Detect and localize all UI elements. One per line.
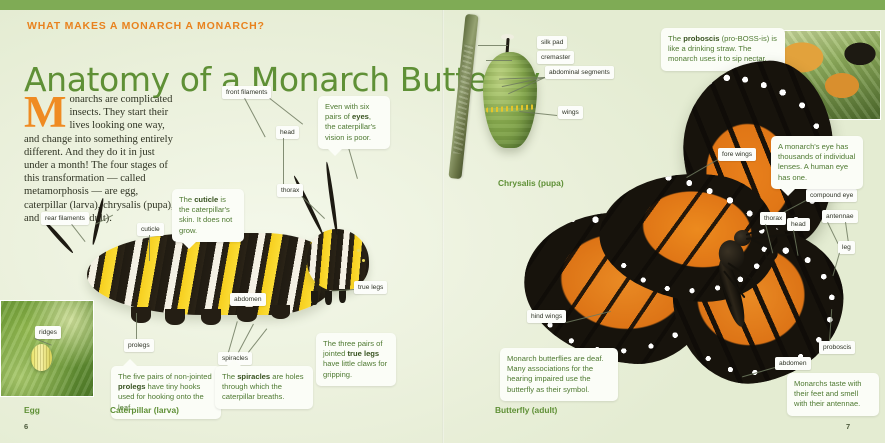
callout-deaf: Monarch butterflies are deaf. Many assoc…	[500, 348, 618, 401]
proleg-3	[201, 309, 221, 325]
callout-proboscis-bold: proboscis	[683, 34, 719, 43]
folio-left: 6	[24, 422, 28, 431]
callout-cuticle-bold: cuticle	[194, 195, 218, 204]
label-bf-leg: leg	[838, 241, 855, 254]
caterpillar-eye-1	[357, 249, 360, 252]
label-hind-wings: hind wings	[527, 310, 566, 323]
label-bf-thorax: thorax	[760, 212, 786, 225]
drop-cap: M	[24, 94, 66, 131]
true-leg-3	[339, 289, 346, 303]
label-cat-thorax: thorax	[277, 184, 303, 197]
callout-prolegs-bold: prolegs	[118, 382, 145, 391]
label-cat-head: head	[276, 126, 299, 139]
label-silk-pad: silk pad	[537, 36, 567, 49]
callout-true-legs: The three pairs of jointed true legs hav…	[316, 333, 396, 386]
callout-taste-text: Monarchs taste with their feet and smell…	[794, 379, 862, 408]
callout-spiracles-pre: The	[222, 372, 237, 381]
caption-butterfly: Butterfly (adult)	[495, 405, 557, 415]
callout-true-legs-bold: true legs	[348, 349, 380, 358]
label-bf-head: head	[787, 218, 810, 231]
proleg-4	[237, 307, 257, 322]
callout-deaf-text: Monarch butterflies are deaf. Many assoc…	[507, 354, 604, 394]
leader-cremaster	[486, 60, 512, 61]
label-abdomen: abdomen	[230, 293, 266, 306]
callout-true-legs-post: have little claws for gripping.	[323, 359, 387, 378]
caption-egg: Egg	[24, 405, 40, 415]
label-proboscis: proboscis	[819, 341, 855, 354]
proleg-2	[165, 309, 185, 325]
spread-page: WHAT MAKES A MONARCH A MONARCH? Anatomy …	[0, 0, 885, 443]
caterpillar-body	[87, 233, 337, 315]
caption-caterpillar: Caterpillar (larva)	[110, 405, 179, 415]
label-front-filaments: front filaments	[222, 86, 271, 99]
label-compound-eye: compound eye	[806, 189, 857, 202]
leader-cuticle	[149, 235, 150, 261]
true-leg-1	[311, 291, 318, 305]
proleg-5	[271, 305, 290, 319]
label-true-legs: true legs	[354, 281, 387, 294]
section-kicker: WHAT MAKES A MONARCH A MONARCH?	[27, 20, 265, 32]
callout-spiracles-bold: spiracles	[237, 372, 270, 381]
proleg-1	[131, 307, 151, 323]
callout-cuticle: The cuticle is the caterpillar's skin. I…	[172, 189, 244, 242]
top-green-bar	[0, 0, 885, 10]
true-leg-2	[325, 291, 332, 305]
folio-right: 7	[846, 422, 850, 431]
leader-prolegs	[136, 313, 137, 339]
label-fore-wings: fore wings	[718, 148, 756, 161]
callout-monarch-eye-text: A monarch's eye has thousands of individ…	[778, 142, 855, 182]
callout-proboscis-pre: The	[668, 34, 683, 43]
caterpillar-stripes	[87, 233, 337, 315]
callout-cuticle-pre: The	[179, 195, 194, 204]
callout-taste: Monarchs taste with their feet and smell…	[787, 373, 879, 416]
label-cuticle: cuticle	[137, 223, 164, 236]
callout-monarch-eye: A monarch's eye has thousands of individ…	[771, 136, 863, 189]
label-prolegs: prolegs	[124, 339, 154, 352]
callout-eyes-bold: eyes	[352, 112, 369, 121]
callout-eyes: Even with six pairs of eyes, the caterpi…	[318, 96, 390, 149]
label-bf-abdomen: abdomen	[775, 357, 811, 370]
caterpillar-eye-2	[362, 259, 365, 262]
callout-prolegs-pre: The five pairs of non-jointed	[118, 372, 212, 381]
twig	[448, 14, 478, 179]
label-rear-filaments: rear filaments	[41, 212, 89, 225]
callout-spiracles: The spiracles are holes through which th…	[215, 366, 313, 409]
leader-silk-pad	[478, 45, 508, 46]
